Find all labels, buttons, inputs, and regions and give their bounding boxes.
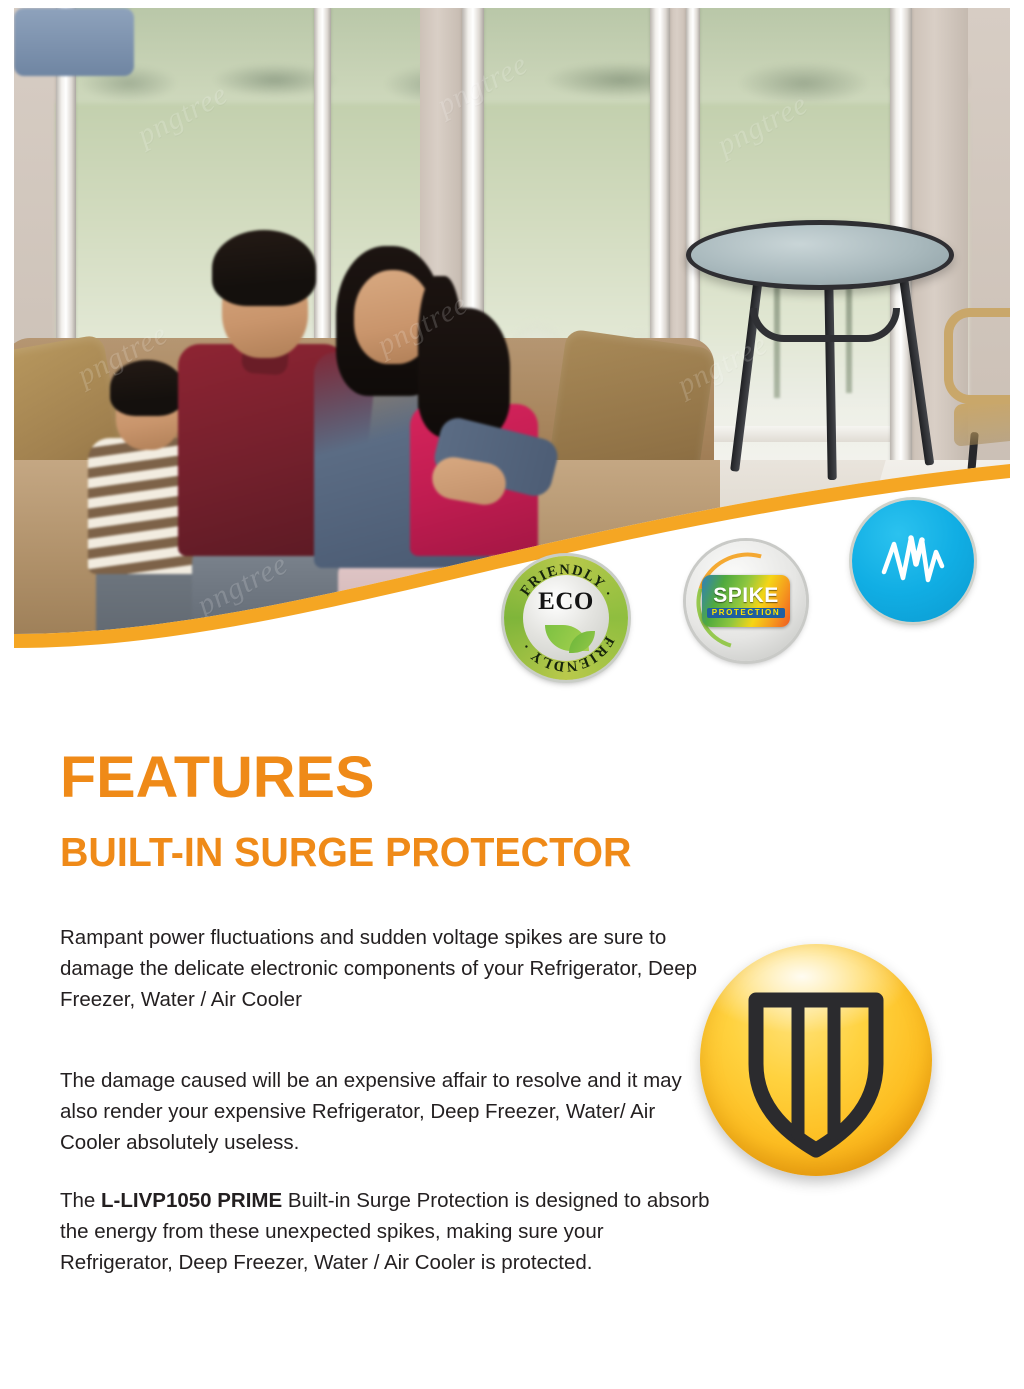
waveform-badge[interactable] (852, 500, 974, 622)
girl-shorts (14, 8, 134, 76)
page-subtitle: BUILT-IN SURGE PROTECTOR (60, 832, 631, 873)
body-paragraph-3: The L-LIVP1050 PRIME Built-in Surge Prot… (60, 1185, 720, 1278)
page-title: FEATURES (60, 749, 374, 807)
surge-shield-badge[interactable] (700, 944, 932, 1176)
eco-friendly-badge[interactable]: FRIENDLY · FRIENDLY · ECO (504, 556, 628, 680)
eco-label: ECO (538, 589, 594, 614)
father-hair (212, 230, 316, 306)
protection-label: PROTECTION (707, 608, 785, 618)
waveform-icon (870, 518, 956, 604)
shield-icon (700, 944, 932, 1176)
person-girl (14, 8, 134, 76)
hero-photo: pngtree pngtree pngtree pngtree pngtree … (14, 8, 1010, 708)
boy-legs (96, 564, 204, 708)
spike-label: SPIKE (713, 585, 779, 606)
eco-inner-disc: ECO (523, 575, 609, 661)
spike-plate: SPIKE PROTECTION (702, 575, 790, 627)
spike-protection-badge[interactable]: SPIKE PROTECTION (686, 541, 806, 661)
body-paragraph-1: Rampant power fluctuations and sudden vo… (60, 922, 710, 1015)
boy-hair (110, 360, 184, 416)
body-paragraph-2: The damage caused will be an expensive a… (60, 1065, 710, 1158)
paragraph-3-lead: The (60, 1189, 101, 1212)
product-model-name: L-LIVP1050 PRIME (101, 1189, 282, 1212)
page-root: pngtree pngtree pngtree pngtree pngtree … (0, 0, 1024, 1389)
